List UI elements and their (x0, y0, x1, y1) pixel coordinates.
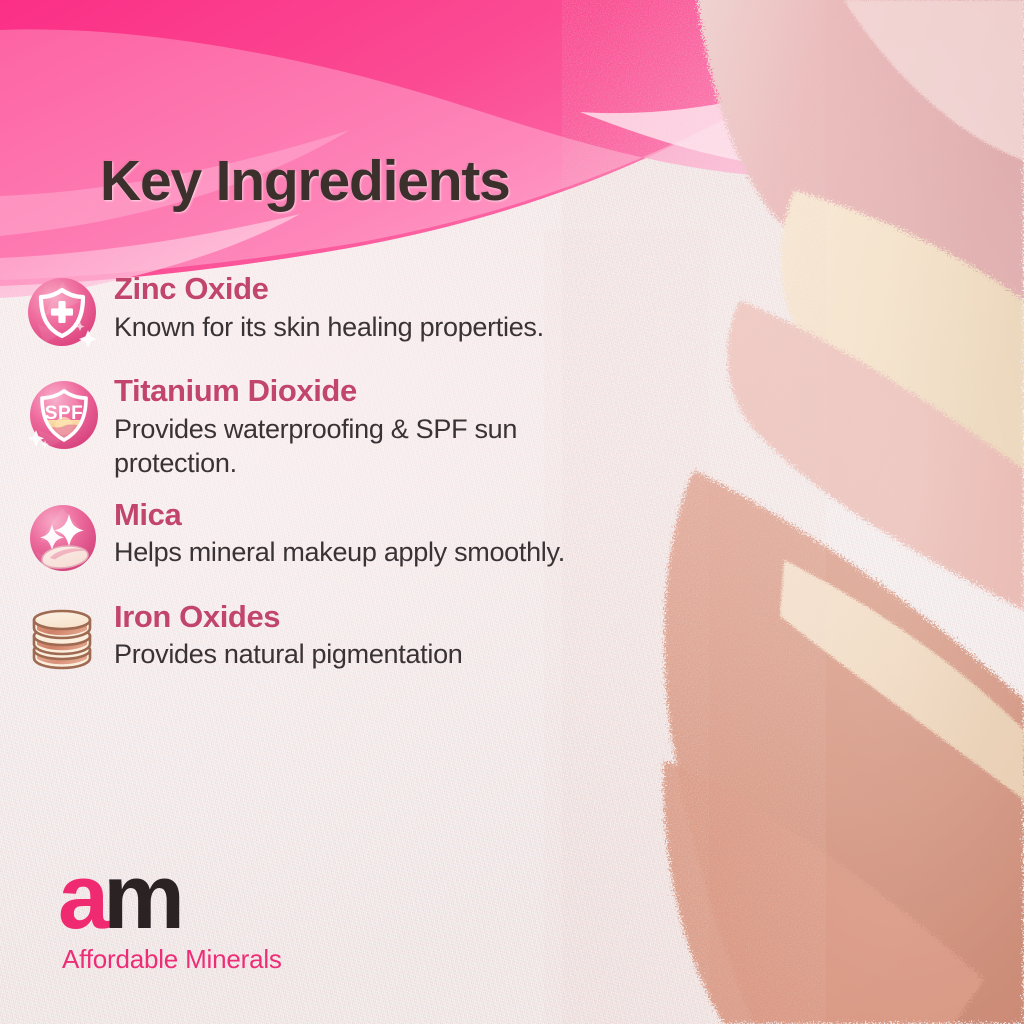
ingredient-name: Iron Oxides (114, 600, 660, 635)
ingredient-description: Helps mineral makeup apply smoothly. (114, 535, 614, 569)
content-area: Key Ingredients (0, 0, 1024, 1024)
ingredient-text-iron-oxides: Iron Oxides Provides natural pigmentatio… (106, 596, 660, 672)
ingredient-name: Titanium Dioxide (114, 374, 660, 409)
logo-letter-m: m (103, 846, 179, 948)
logo-tagline: Affordable Minerals (62, 944, 282, 975)
ingredient-item-mica: Mica Helps mineral makeup apply smoothly… (0, 494, 660, 582)
spf-shield-icon: SPF (22, 374, 106, 458)
ingredient-text-titanium-dioxide: Titanium Dioxide Provides waterproofing … (106, 370, 660, 480)
ingredient-item-titanium-dioxide: SPF Titanium Dioxide Provides waterproof… (0, 370, 660, 480)
logo-mark: am (58, 855, 282, 940)
page-title: Key Ingredients (100, 148, 510, 214)
shield-plus-icon (22, 272, 106, 356)
brand-logo: am Affordable Minerals (58, 855, 282, 975)
stacked-powder-discs-icon (22, 600, 106, 684)
ingredient-item-iron-oxides: Iron Oxides Provides natural pigmentatio… (0, 596, 660, 684)
ingredients-poster: Key Ingredients (0, 0, 1024, 1024)
spf-icon-label: SPF (45, 403, 83, 424)
ingredient-name: Mica (114, 498, 660, 533)
ingredient-text-mica: Mica Helps mineral makeup apply smoothly… (106, 494, 660, 570)
ingredient-name: Zinc Oxide (114, 272, 660, 307)
ingredient-item-zinc-oxide: Zinc Oxide Known for its skin healing pr… (0, 268, 660, 356)
ingredient-description: Known for its skin healing properties. (114, 310, 614, 344)
ingredient-list: Zinc Oxide Known for its skin healing pr… (0, 268, 660, 698)
ingredient-description: Provides waterproofing & SPF sun protect… (114, 412, 614, 480)
logo-letter-a: a (58, 846, 103, 948)
sparkle-mineral-icon (22, 498, 106, 582)
ingredient-text-zinc-oxide: Zinc Oxide Known for its skin healing pr… (106, 268, 660, 344)
ingredient-description: Provides natural pigmentation (114, 637, 614, 671)
